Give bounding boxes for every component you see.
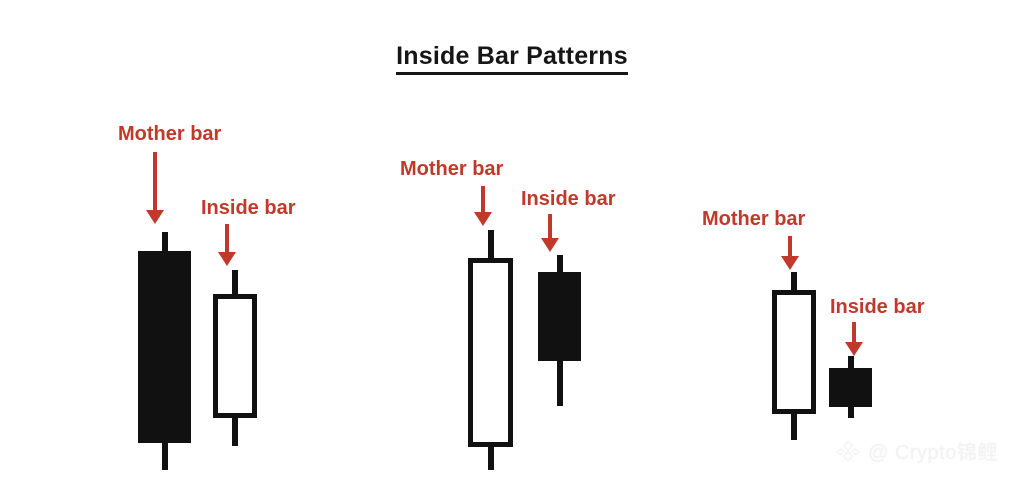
inside-bar-patterns-diagram: Inside Bar Patterns Mother bar Inside ba… — [0, 0, 1024, 477]
candle-mother-bar-2 — [468, 230, 513, 470]
label-mother-bar-2: Mother bar — [400, 159, 503, 179]
candle-body — [772, 290, 816, 414]
candle-body — [829, 368, 872, 407]
label-inside-bar-1: Inside bar — [201, 198, 295, 218]
arrow-mother-bar-3 — [781, 236, 799, 270]
arrow-mother-bar-1 — [146, 152, 164, 224]
watermark-text: @ Crypto锦鲤 — [868, 436, 998, 465]
arrow-shaft — [548, 214, 552, 238]
candle-body — [468, 258, 513, 447]
arrow-head-down-icon — [541, 238, 559, 252]
candle-mother-bar-1 — [138, 232, 191, 470]
arrow-shaft — [153, 152, 157, 210]
candle-inside-bar-2 — [538, 255, 581, 406]
label-mother-bar-1: Mother bar — [118, 124, 221, 144]
candle-mother-bar-3 — [772, 272, 816, 440]
arrow-inside-bar-2 — [541, 214, 559, 252]
arrow-head-down-icon — [474, 212, 492, 226]
arrow-inside-bar-3 — [845, 322, 863, 356]
page-title-text: Inside Bar Patterns — [396, 42, 628, 75]
candle-body — [538, 272, 581, 361]
arrow-head-down-icon — [781, 256, 799, 270]
arrow-shaft — [852, 322, 856, 342]
arrow-shaft — [225, 224, 229, 252]
arrow-head-down-icon — [845, 342, 863, 356]
label-mother-bar-3: Mother bar — [702, 209, 805, 229]
arrow-head-down-icon — [218, 252, 236, 266]
page-title: Inside Bar Patterns — [0, 42, 1024, 71]
arrow-inside-bar-1 — [218, 224, 236, 266]
candle-inside-bar-3 — [829, 356, 872, 418]
arrow-shaft — [481, 186, 485, 212]
arrow-head-down-icon — [146, 210, 164, 224]
candle-body — [138, 251, 191, 443]
binance-diamond-icon — [836, 439, 860, 463]
watermark: @ Crypto锦鲤 — [836, 436, 998, 465]
candle-body — [213, 294, 257, 418]
arrow-shaft — [788, 236, 792, 256]
arrow-mother-bar-2 — [474, 186, 492, 226]
candle-inside-bar-1 — [213, 270, 257, 446]
label-inside-bar-2: Inside bar — [521, 189, 615, 209]
label-inside-bar-3: Inside bar — [830, 297, 924, 317]
